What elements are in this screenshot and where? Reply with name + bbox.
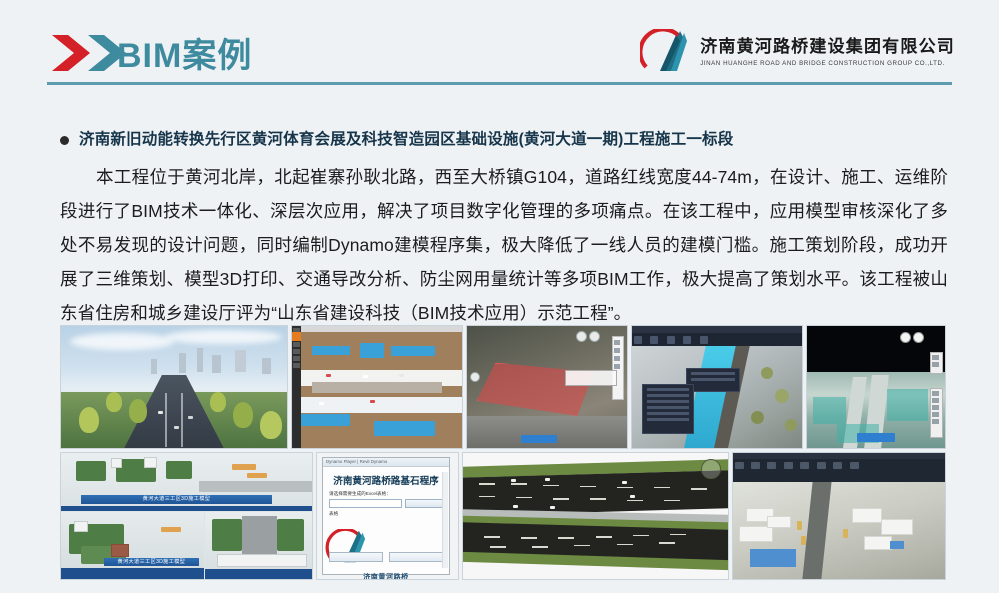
toolbar-icon[interactable] bbox=[735, 462, 744, 469]
model-building bbox=[217, 554, 307, 567]
panel-icon[interactable] bbox=[614, 364, 620, 369]
tarp-overlay bbox=[887, 389, 928, 421]
gallery-image-3d-road-model[interactable] bbox=[462, 452, 729, 580]
toolbar-icon[interactable] bbox=[634, 336, 642, 344]
model-base bbox=[205, 569, 312, 579]
lane-marking bbox=[543, 485, 559, 486]
vehicle-shape bbox=[319, 402, 324, 405]
slide-header: BIM案例 济南黄河路桥建设集团有限公司 JINAN HUANGHE ROAD … bbox=[0, 0, 999, 100]
tarp-cover bbox=[750, 549, 796, 567]
dialog-heading: 济南黄河路桥路基石程序 bbox=[323, 473, 449, 487]
equipment-shape bbox=[801, 536, 806, 545]
lane-marking bbox=[654, 487, 670, 488]
lane-marking bbox=[484, 536, 500, 537]
cancel-button[interactable] bbox=[329, 552, 383, 562]
properties-panel[interactable] bbox=[642, 384, 694, 434]
toolbar-icon[interactable] bbox=[784, 462, 793, 469]
model-building bbox=[111, 458, 122, 468]
project-title: 济南新旧动能转换先行区黄河体育会展及科技智造园区基础设施(黄河大道一期)工程施工… bbox=[79, 129, 733, 151]
panel-row bbox=[647, 400, 689, 403]
building-shape bbox=[212, 355, 221, 373]
company-logo-text: 济南黄河路桥建设集团有限公司 JINAN HUANGHE ROAD AND BR… bbox=[700, 37, 955, 68]
tool-panel[interactable] bbox=[930, 352, 943, 374]
vehicle-shape bbox=[622, 481, 627, 484]
gallery-image-3d-printed-models[interactable]: 黄河大道三工区3D施工模型 黄河大道三工区3D施工模型 bbox=[60, 452, 313, 580]
lane-marking bbox=[490, 546, 506, 547]
panel-icon[interactable] bbox=[932, 398, 939, 403]
gallery-image-aerial-site[interactable] bbox=[732, 452, 946, 580]
vehicle-shape bbox=[326, 374, 331, 377]
tool-panel[interactable] bbox=[930, 388, 943, 438]
water-zone bbox=[299, 414, 350, 426]
panel-icon[interactable] bbox=[614, 348, 620, 353]
water-zone bbox=[391, 346, 435, 357]
median-barrier bbox=[312, 382, 441, 393]
vehicle-shape bbox=[411, 402, 416, 405]
scrollbar[interactable] bbox=[442, 472, 448, 568]
lane-marking bbox=[596, 536, 612, 537]
action-button[interactable] bbox=[521, 435, 557, 443]
viewport-control-icon[interactable] bbox=[576, 331, 587, 342]
toolbar-icon[interactable] bbox=[800, 462, 809, 469]
toolbar-icon[interactable] bbox=[767, 462, 776, 469]
landscaping-shape bbox=[277, 519, 305, 552]
vehicle-shape bbox=[363, 375, 368, 378]
gallery-image-bim-software[interactable] bbox=[631, 325, 803, 449]
tarp-overlay bbox=[813, 397, 846, 424]
vegetation-shape bbox=[785, 419, 797, 431]
equipment-shape bbox=[232, 464, 256, 470]
water-zone bbox=[374, 421, 435, 436]
viewport-control-icon[interactable] bbox=[913, 332, 924, 343]
panel-row bbox=[647, 412, 689, 415]
vehicle-shape bbox=[550, 506, 555, 509]
toolbar-icon[interactable] bbox=[751, 462, 760, 469]
lane-marking bbox=[558, 537, 574, 538]
vehicle-shape bbox=[399, 374, 404, 377]
equipment-shape bbox=[247, 473, 267, 478]
lane-marking bbox=[479, 483, 495, 484]
gallery-row-2: 黄河大道三工区3D施工模型 黄河大道三工区3D施工模型 bbox=[60, 452, 946, 580]
model-base bbox=[61, 568, 204, 579]
tree-shape bbox=[106, 392, 122, 412]
panel-row bbox=[647, 388, 689, 391]
dialog-field-label-2: 表格 bbox=[329, 511, 443, 517]
water-zone bbox=[360, 343, 384, 358]
model-building bbox=[111, 544, 129, 557]
tree-shape bbox=[129, 399, 147, 423]
model-base bbox=[61, 506, 312, 511]
model-banner: 黄河大道三工区3D施工模型 bbox=[104, 558, 199, 566]
panel-row bbox=[647, 406, 689, 409]
dialog-titlebar: Dynamo Player | Revit Dynamo bbox=[323, 458, 449, 467]
lane-marking bbox=[532, 546, 548, 547]
panel-icon[interactable] bbox=[932, 419, 939, 424]
gallery-image-highway-rendering[interactable] bbox=[60, 325, 288, 449]
vehicle-shape bbox=[511, 479, 516, 482]
menu-toolbar[interactable] bbox=[733, 459, 945, 482]
vehicle-shape bbox=[513, 505, 518, 508]
file-path-input[interactable] bbox=[329, 499, 402, 508]
model-building bbox=[74, 521, 88, 532]
dialog-field-label: 请选择需要生成的Excel表格： bbox=[329, 491, 443, 497]
toolbar-icon[interactable] bbox=[293, 356, 300, 361]
lane-marking bbox=[691, 488, 707, 489]
slide-root: BIM案例 济南黄河路桥建设集团有限公司 JINAN HUANGHE ROAD … bbox=[0, 0, 999, 593]
toolbar-icon[interactable] bbox=[850, 462, 859, 469]
view-cube-icon[interactable] bbox=[701, 459, 721, 479]
panel-icon[interactable] bbox=[932, 412, 939, 417]
simulation-titlebar bbox=[292, 326, 462, 332]
building-shape bbox=[179, 353, 186, 373]
panel-icon[interactable] bbox=[932, 362, 939, 367]
lane-marking bbox=[521, 537, 537, 538]
lane-marking bbox=[574, 545, 590, 546]
lane-marking bbox=[633, 535, 649, 536]
lane-marking bbox=[617, 544, 633, 545]
company-name-en: JINAN HUANGHE ROAD AND BRIDGE CONSTRUCTI… bbox=[700, 59, 955, 68]
landscaping-shape bbox=[166, 461, 191, 480]
tree-shape bbox=[260, 411, 282, 439]
site-building bbox=[739, 526, 773, 542]
equipment-shape bbox=[161, 527, 181, 532]
lane-marking bbox=[181, 393, 183, 447]
site-building bbox=[852, 508, 882, 523]
lane-marking bbox=[516, 497, 532, 498]
image-gallery: 黄河大道三工区3D施工模型 黄河大道三工区3D施工模型 bbox=[60, 325, 946, 583]
dialog-buttons bbox=[329, 552, 443, 562]
measurement-tooltip bbox=[565, 370, 617, 386]
toolbar-icon[interactable] bbox=[700, 336, 708, 344]
toolbar-icon[interactable] bbox=[293, 363, 300, 368]
body-paragraph: 本工程位于黄河北岸，北起崔寨孙耿北路，西至大桥镇G104，道路红线宽度44-74… bbox=[60, 160, 948, 330]
action-button[interactable] bbox=[857, 433, 895, 442]
toolbar-icon[interactable] bbox=[683, 336, 691, 344]
vehicle-shape bbox=[630, 495, 635, 498]
toolbar-icon[interactable] bbox=[293, 342, 300, 347]
viewport-control-icon[interactable] bbox=[900, 332, 911, 343]
active-tool-icon[interactable] bbox=[292, 332, 301, 341]
gallery-row-1 bbox=[60, 325, 946, 449]
model-building bbox=[144, 457, 157, 468]
equipment-shape bbox=[797, 521, 802, 530]
panel-icon[interactable] bbox=[614, 340, 620, 345]
simulation-toolbar[interactable] bbox=[292, 326, 301, 448]
toolbar-icon[interactable] bbox=[650, 336, 658, 344]
panel-icon[interactable] bbox=[932, 405, 939, 410]
panel-row bbox=[691, 378, 735, 381]
panel-row bbox=[647, 394, 689, 397]
dialog-field-row bbox=[329, 499, 443, 508]
gallery-image-pointcloud[interactable] bbox=[806, 325, 946, 449]
road-band bbox=[292, 397, 462, 413]
gallery-image-photogrammetry[interactable] bbox=[466, 325, 628, 449]
dialog-logo-text: 济南黄河路桥 bbox=[323, 572, 449, 580]
tree-shape bbox=[233, 402, 253, 428]
vehicle-shape bbox=[174, 426, 179, 429]
site-building bbox=[881, 519, 913, 535]
panel-row bbox=[691, 372, 735, 375]
building-shape bbox=[262, 358, 271, 374]
lane-marking bbox=[511, 483, 527, 484]
model-road bbox=[199, 481, 312, 492]
building-shape bbox=[235, 350, 246, 372]
lane-marking bbox=[664, 500, 680, 501]
bullet-dot-icon bbox=[60, 136, 69, 145]
page-title: BIM案例 bbox=[117, 28, 252, 77]
tool-panel[interactable] bbox=[612, 336, 624, 400]
header-divider bbox=[47, 82, 952, 85]
gallery-image-dynamo-dialog[interactable]: Dynamo Player | Revit Dynamo 济南黄河路桥路基石程序… bbox=[316, 452, 459, 580]
tarp-cover bbox=[890, 541, 904, 549]
lane-marking bbox=[479, 496, 495, 497]
toolbar-icon[interactable] bbox=[293, 349, 300, 354]
model-banner-text: 黄河大道三工区3D施工模型 bbox=[81, 495, 272, 504]
equipment-shape bbox=[843, 529, 848, 538]
lane-marking bbox=[590, 498, 606, 499]
ribbon-toolbar[interactable] bbox=[632, 333, 802, 346]
toolbar-icon[interactable] bbox=[817, 462, 826, 469]
lane-marking bbox=[627, 500, 643, 501]
panel-row bbox=[647, 418, 689, 421]
model-banner-text: 黄河大道三工区3D施工模型 bbox=[104, 558, 199, 566]
company-logo-mark-icon bbox=[640, 29, 692, 75]
site-building bbox=[864, 536, 892, 550]
model-banner: 黄河大道三工区3D施工模型 bbox=[81, 495, 272, 504]
toolbar-icon[interactable] bbox=[833, 462, 842, 469]
toolbar-icon[interactable] bbox=[667, 336, 675, 344]
building-shape bbox=[197, 348, 203, 372]
floating-toolbar[interactable] bbox=[686, 368, 740, 392]
lane-marking bbox=[659, 542, 675, 543]
water-zone bbox=[312, 346, 349, 356]
lane-marking bbox=[553, 498, 569, 499]
road-surface bbox=[467, 416, 627, 448]
vehicle-shape bbox=[545, 478, 550, 481]
landscaping-shape bbox=[76, 461, 106, 481]
window-titlebar bbox=[632, 326, 802, 333]
site-building bbox=[767, 516, 791, 528]
panel-icon[interactable] bbox=[932, 355, 939, 360]
dialog-window[interactable]: Dynamo Player | Revit Dynamo 济南黄河路桥路基石程序… bbox=[322, 457, 450, 575]
panel-icon[interactable] bbox=[932, 391, 939, 396]
vehicle-shape bbox=[188, 416, 193, 419]
lane-marking bbox=[580, 486, 596, 487]
bullet-heading-row: 济南新旧动能转换先行区黄河体育会展及科技智造园区基础设施(黄河大道一期)工程施工… bbox=[60, 129, 950, 151]
browse-button[interactable] bbox=[405, 499, 443, 508]
lane-marking bbox=[670, 534, 686, 535]
ok-button[interactable] bbox=[389, 552, 443, 562]
landscaping-shape bbox=[212, 519, 242, 552]
lane-marking bbox=[617, 487, 633, 488]
gallery-image-traffic-simulation[interactable] bbox=[291, 325, 463, 449]
lane-marking bbox=[165, 393, 167, 447]
tree-shape bbox=[79, 407, 99, 433]
building-shape bbox=[151, 359, 157, 374]
model-road bbox=[242, 516, 277, 554]
company-logo: 济南黄河路桥建设集团有限公司 JINAN HUANGHE ROAD AND BR… bbox=[640, 26, 955, 78]
viewport-control-icon[interactable] bbox=[470, 372, 480, 382]
tree-shape bbox=[210, 392, 226, 412]
viewport-control-icon[interactable] bbox=[589, 331, 600, 342]
panel-icon[interactable] bbox=[614, 356, 620, 361]
company-name-cn: 济南黄河路桥建设集团有限公司 bbox=[700, 37, 955, 57]
